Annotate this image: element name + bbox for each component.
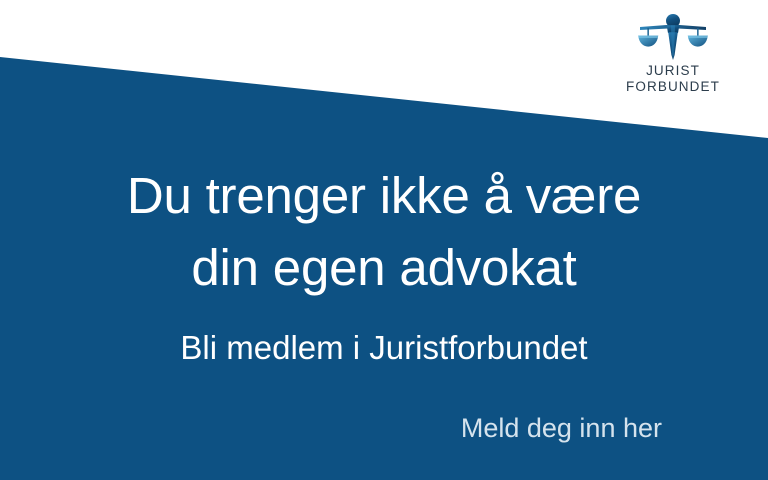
logo-wordmark-line-1: JURIST	[626, 63, 720, 79]
subtitle: Bli medlem i Juristforbundet	[0, 327, 768, 369]
juristforbundet-logo[interactable]: JURIST FORBUNDET	[620, 14, 726, 95]
advertisement-banner[interactable]: JURIST FORBUNDET Du trenger ikke å være …	[0, 0, 768, 480]
headline: Du trenger ikke å være din egen advokat	[0, 160, 768, 304]
headline-line-2: din egen advokat	[0, 232, 768, 304]
scales-of-justice-icon	[635, 14, 711, 60]
signup-cta-link[interactable]: Meld deg inn her	[461, 410, 662, 446]
logo-wordmark-line-2: FORBUNDET	[626, 79, 720, 95]
logo-wordmark: JURIST FORBUNDET	[626, 63, 720, 95]
headline-line-1: Du trenger ikke å være	[0, 160, 768, 232]
